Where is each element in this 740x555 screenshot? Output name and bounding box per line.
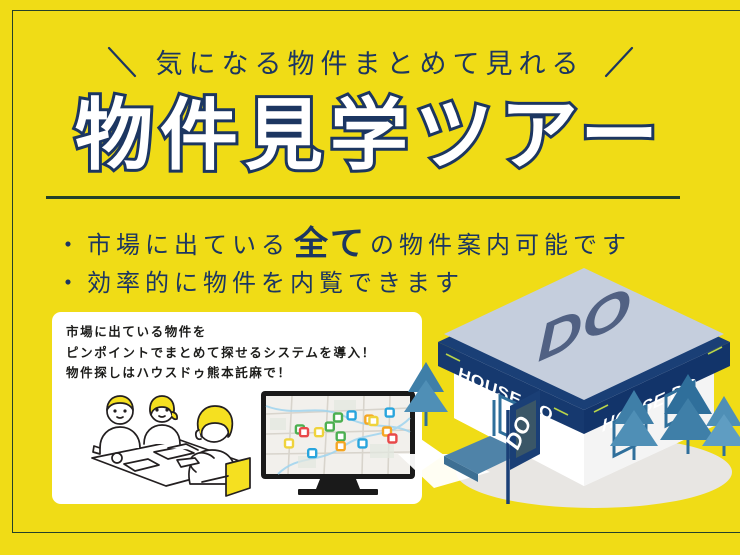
bullet-marker: ・ <box>56 229 85 264</box>
map-pin <box>285 439 293 447</box>
bullet-marker: ・ <box>56 267 85 302</box>
info-card-line-1: 市場に出ている物件を <box>66 322 416 343</box>
info-card-line-3: 物件探しはハウスドゥ熊本託麻で！ <box>66 363 416 384</box>
page-title-text: 物件見学ツアー <box>75 96 665 174</box>
map-pin <box>386 409 394 417</box>
bullet-emphasis: 全て <box>294 220 366 269</box>
monitor-illustration <box>258 388 418 498</box>
right-slash-icon <box>601 45 635 79</box>
map-pin <box>337 442 345 450</box>
map-pin <box>369 417 377 425</box>
info-card-text: 市場に出ている物件を ピンポイントでまとめて探せるシステムを導入！ 物件探しはハ… <box>66 322 416 384</box>
page-title: 物件見学ツアー <box>0 96 740 174</box>
info-card-line-2: ピンポイントでまとめて探せるシステムを導入！ <box>66 343 416 364</box>
map-pin <box>388 435 396 443</box>
map-pin <box>359 439 367 447</box>
map-pin <box>334 414 342 422</box>
map-pin <box>348 411 356 419</box>
consultation-illustration <box>62 386 252 498</box>
title-divider <box>46 196 680 199</box>
tagline-text: 気になる物件まとめて見れる <box>156 42 585 81</box>
bullet-text-pre: 市場に出ている <box>87 229 290 264</box>
left-slash-icon <box>106 45 140 79</box>
tagline-row: 気になる物件まとめて見れる <box>0 42 740 81</box>
map-pin <box>315 428 323 436</box>
map-pin <box>308 449 316 457</box>
map-pin <box>326 423 334 431</box>
poster-canvas: 気になる物件まとめて見れる 物件見学ツアー ・ 市場に出ている 全て の物件案内… <box>0 0 740 555</box>
map-pin <box>337 432 345 440</box>
house-do-building-illustration: DO HOUSE DO HOUSE DO <box>398 258 740 520</box>
map-pin <box>300 428 308 436</box>
tree-left <box>404 362 448 426</box>
